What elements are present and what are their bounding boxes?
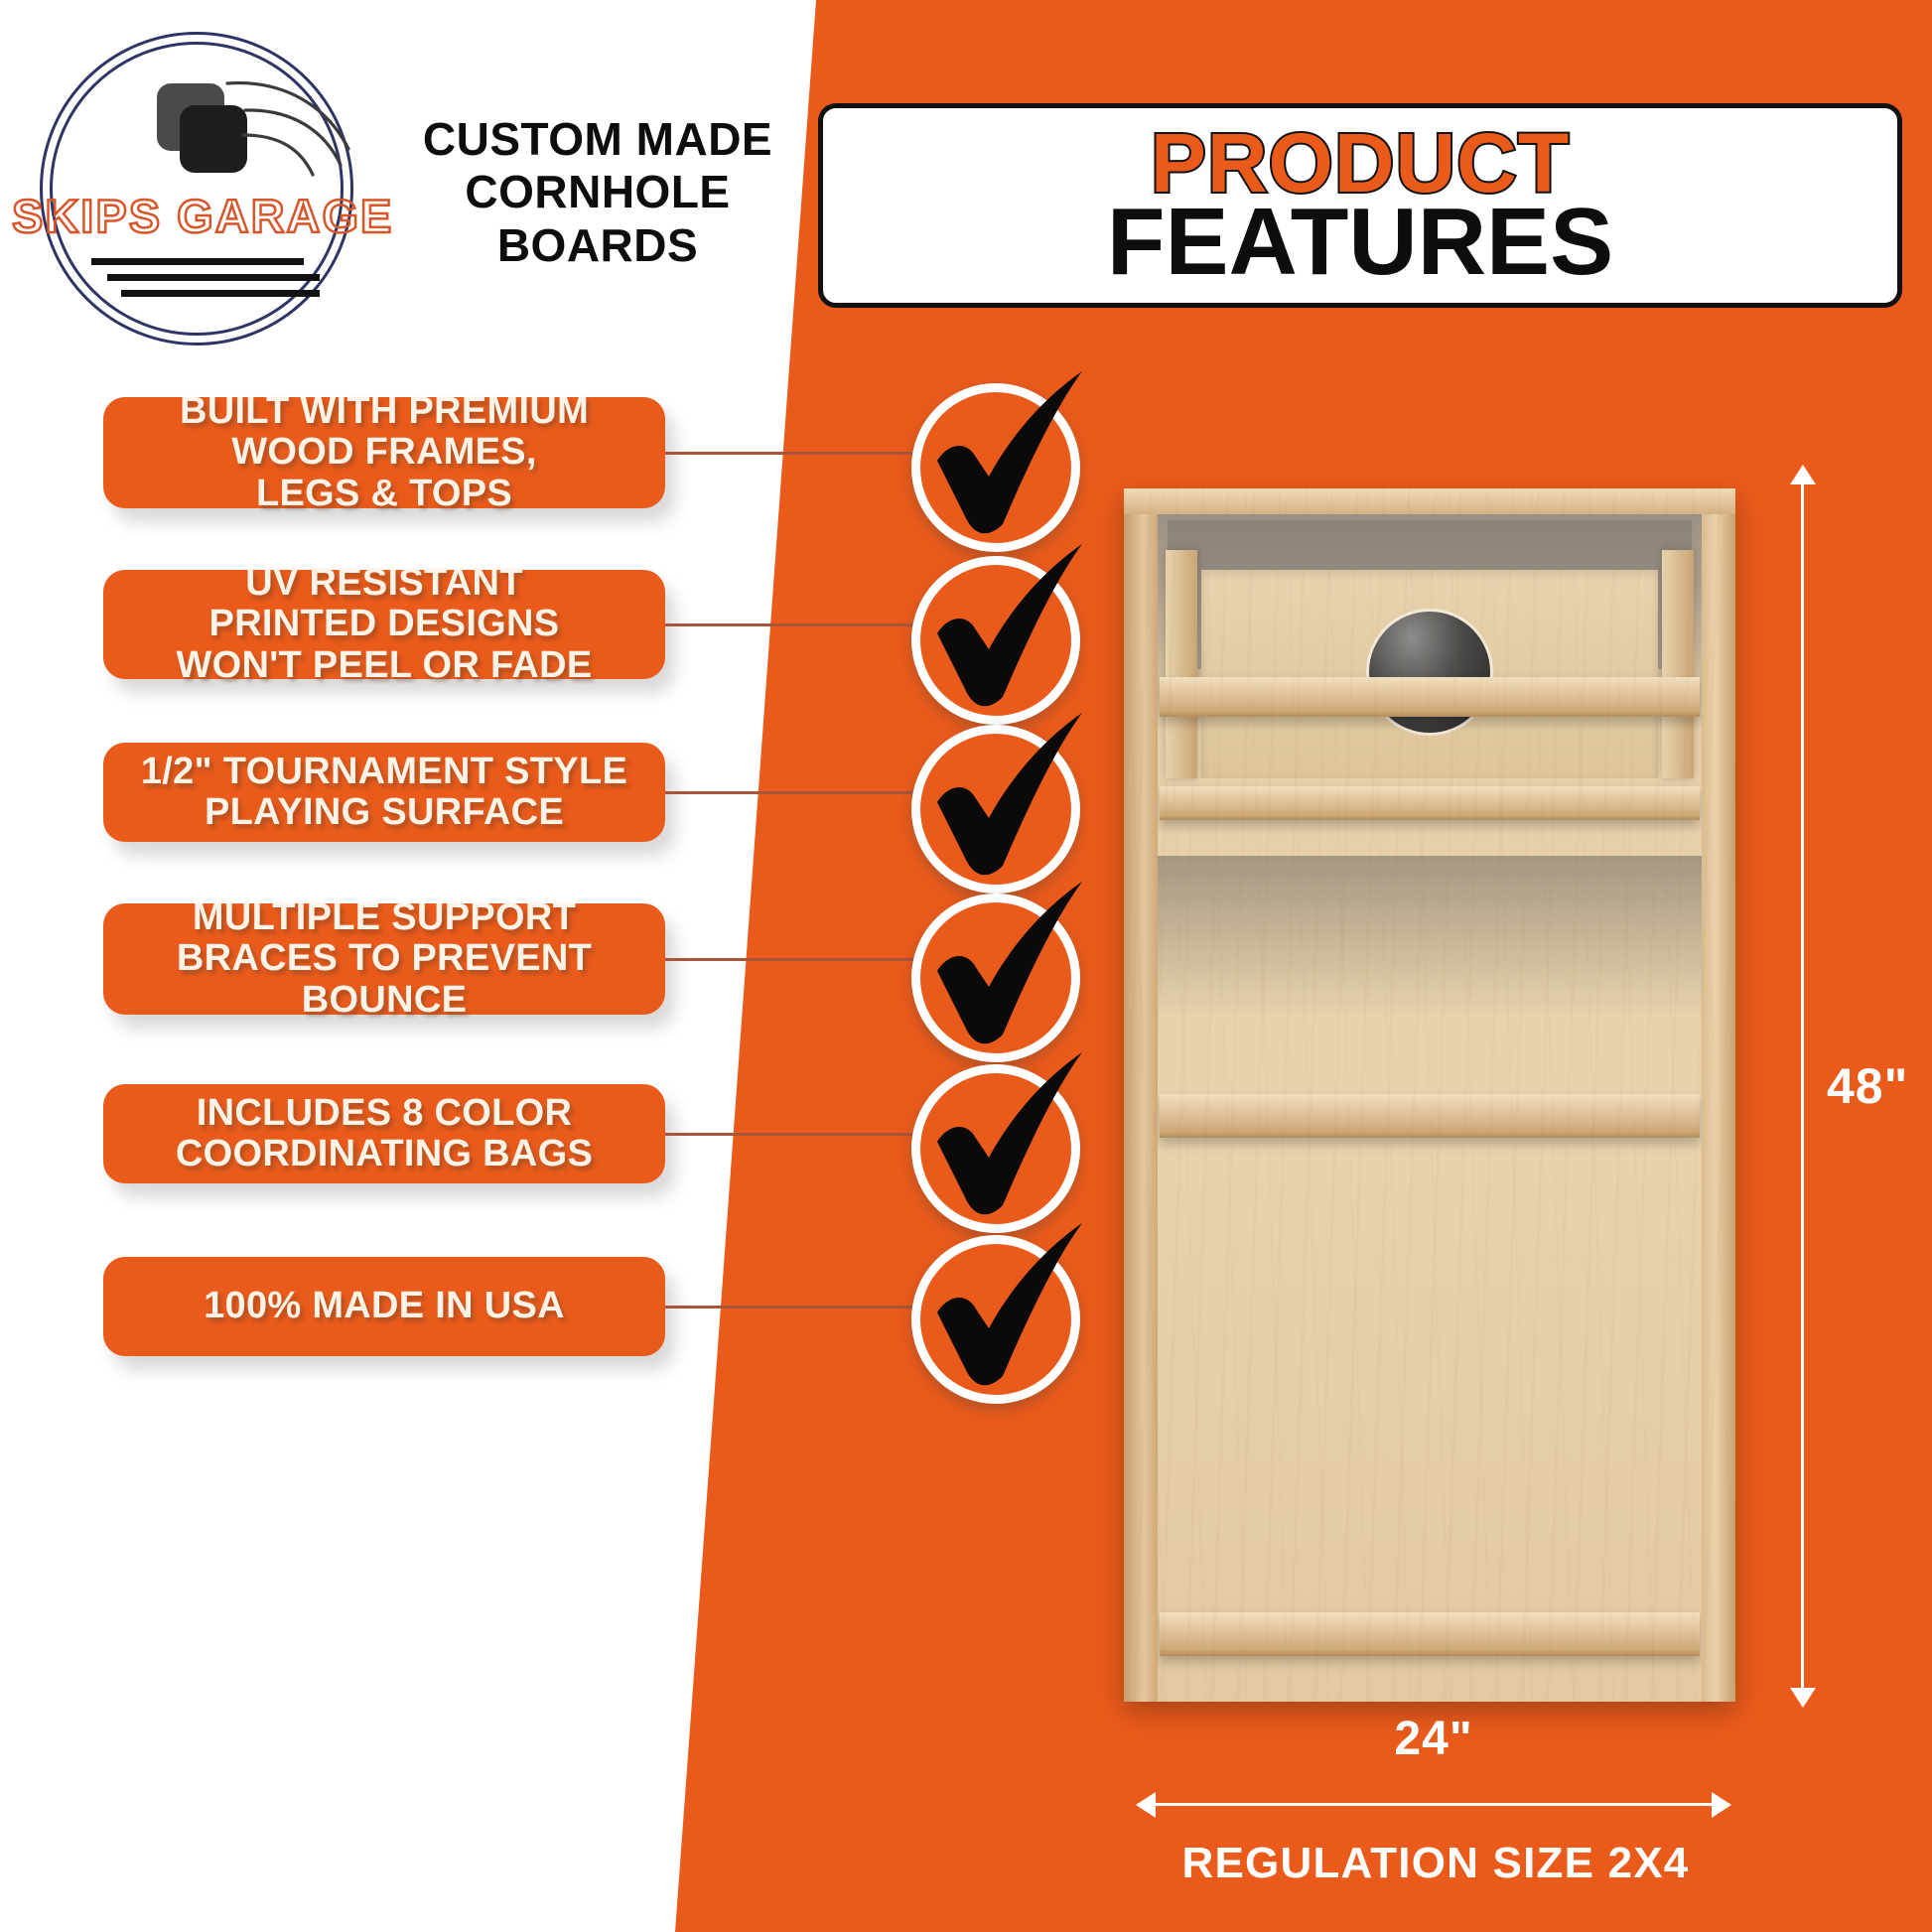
page-title: CUSTOM MADE CORNHOLE BOARDS <box>389 113 806 272</box>
feature-pill-text: INCLUDES 8 COLORCOORDINATING BAGS <box>176 1093 593 1174</box>
feature-connector-line <box>665 623 933 626</box>
feature-check-badge <box>911 725 1080 894</box>
feature-pill-line: WOOD FRAMES, <box>180 432 589 473</box>
feature-pill-line: COORDINATING BAGS <box>176 1134 593 1174</box>
feature-pill-line: UV RESISTANT <box>176 563 592 604</box>
board-leg-left <box>1166 550 1197 778</box>
feature-check-badge <box>911 1235 1080 1404</box>
feature-pill-text: MULTIPLE SUPPORTBRACES TO PREVENTBOUNCE <box>177 897 592 1020</box>
board-brace-2 <box>1160 786 1700 820</box>
feature-check-badge <box>911 383 1080 552</box>
banner-word-features: FEATURES <box>1107 197 1613 288</box>
check-mark-icon <box>915 707 1096 896</box>
logo-bar-3 <box>121 290 320 297</box>
feature-row: INCLUDES 8 COLORCOORDINATING BAGS <box>0 1084 1122 1233</box>
dimension-height: 48" <box>1787 467 1906 1706</box>
feature-pill-line: PLAYING SURFACE <box>141 792 627 833</box>
feature-pill-support-braces: MULTIPLE SUPPORTBRACES TO PREVENTBOUNCE <box>103 903 665 1015</box>
feature-pill-line: PRINTED DESIGNS <box>176 604 592 644</box>
dimension-height-arrow-down-icon <box>1790 1688 1816 1708</box>
logo-bar-2 <box>107 274 320 281</box>
feature-pill-text: 100% MADE IN USA <box>204 1286 565 1326</box>
board-brace-4 <box>1160 1612 1700 1656</box>
dimension-width-label: 24" <box>1138 1712 1729 1766</box>
feature-pill-line: LEGS & TOPS <box>180 474 589 514</box>
dimension-height-label: 48" <box>1827 1057 1908 1115</box>
feature-row: 1/2" TOURNAMENT STYLEPLAYING SURFACE <box>0 743 1122 892</box>
page-title-line-3: BOARDS <box>389 219 806 272</box>
check-mark-icon <box>915 1046 1096 1235</box>
board-brace-1 <box>1160 677 1700 717</box>
feature-pill-line: BOUNCE <box>177 980 592 1021</box>
feature-pill-text: 1/2" TOURNAMENT STYLEPLAYING SURFACE <box>141 752 627 833</box>
feature-pill-line: 1/2" TOURNAMENT STYLE <box>141 752 627 792</box>
feature-pill-text: UV RESISTANTPRINTED DESIGNSWON'T PEEL OR… <box>176 563 592 685</box>
check-mark-icon <box>915 538 1096 727</box>
feature-check-badge <box>911 894 1080 1062</box>
feature-pill-line: 100% MADE IN USA <box>204 1286 565 1326</box>
feature-row: MULTIPLE SUPPORTBRACES TO PREVENTBOUNCE <box>0 903 1122 1052</box>
feature-row: 100% MADE IN USA <box>0 1257 1122 1406</box>
page-title-line-1: CUSTOM MADE <box>389 113 806 166</box>
feature-connector-line <box>665 958 933 961</box>
feature-connector-line <box>665 1306 933 1309</box>
feature-pill-uv-resistant: UV RESISTANTPRINTED DESIGNSWON'T PEEL OR… <box>103 570 665 679</box>
feature-pill-line: BRACES TO PREVENT <box>177 938 592 979</box>
feature-connector-line <box>665 452 933 455</box>
board-brace-3 <box>1160 1094 1700 1138</box>
product-features-banner: PRODUCT FEATURES <box>818 103 1902 308</box>
board-rail-left <box>1124 488 1158 1702</box>
dimension-height-arrow-up-icon <box>1790 465 1816 484</box>
feature-pill-text: BUILT WITH PREMIUMWOOD FRAMES,LEGS & TOP… <box>180 391 589 513</box>
feature-pill-made-in-usa: 100% MADE IN USA <box>103 1257 665 1356</box>
board-rail-top <box>1124 488 1735 514</box>
dimension-width-line <box>1138 1803 1729 1806</box>
feature-row: BUILT WITH PREMIUMWOOD FRAMES,LEGS & TOP… <box>0 397 1122 546</box>
board-rail-right <box>1702 488 1735 1702</box>
product-image-cornhole-board <box>1124 488 1735 1702</box>
logo-motion-lines-icon <box>221 71 360 181</box>
dimension-width-arrow-left-icon <box>1136 1792 1156 1818</box>
check-mark-icon <box>915 1217 1096 1406</box>
feature-pill-line: WON'T PEEL OR FADE <box>176 645 592 686</box>
feature-pill-line: INCLUDES 8 COLOR <box>176 1093 593 1134</box>
feature-pill-line: BUILT WITH PREMIUM <box>180 391 589 432</box>
board-leg-right <box>1662 550 1694 778</box>
feature-pill-premium-wood: BUILT WITH PREMIUMWOOD FRAMES,LEGS & TOP… <box>103 397 665 508</box>
board-mid-shadow <box>1158 856 1702 1015</box>
logo-bar-1 <box>91 258 304 265</box>
dimension-width-arrow-right-icon <box>1712 1792 1731 1818</box>
check-mark-icon <box>915 876 1096 1064</box>
feature-check-badge <box>911 1064 1080 1233</box>
regulation-size-caption: REGULATION SIZE 2X4 <box>1038 1839 1833 1888</box>
feature-check-badge <box>911 556 1080 725</box>
feature-pill-included-bags: INCLUDES 8 COLORCOORDINATING BAGS <box>103 1084 665 1183</box>
dimension-height-line <box>1801 467 1804 1706</box>
feature-pill-playing-surface: 1/2" TOURNAMENT STYLEPLAYING SURFACE <box>103 743 665 842</box>
logo-wordmark: SKIPS GARAGE <box>12 189 381 243</box>
page-title-line-2: CORNHOLE <box>389 166 806 218</box>
brand-logo: SKIPS GARAGE <box>18 22 375 369</box>
check-mark-icon <box>915 365 1096 554</box>
feature-connector-line <box>665 1133 933 1136</box>
feature-pill-line: MULTIPLE SUPPORT <box>177 897 592 938</box>
feature-connector-line <box>665 791 933 794</box>
feature-row: UV RESISTANTPRINTED DESIGNSWON'T PEEL OR… <box>0 570 1122 719</box>
